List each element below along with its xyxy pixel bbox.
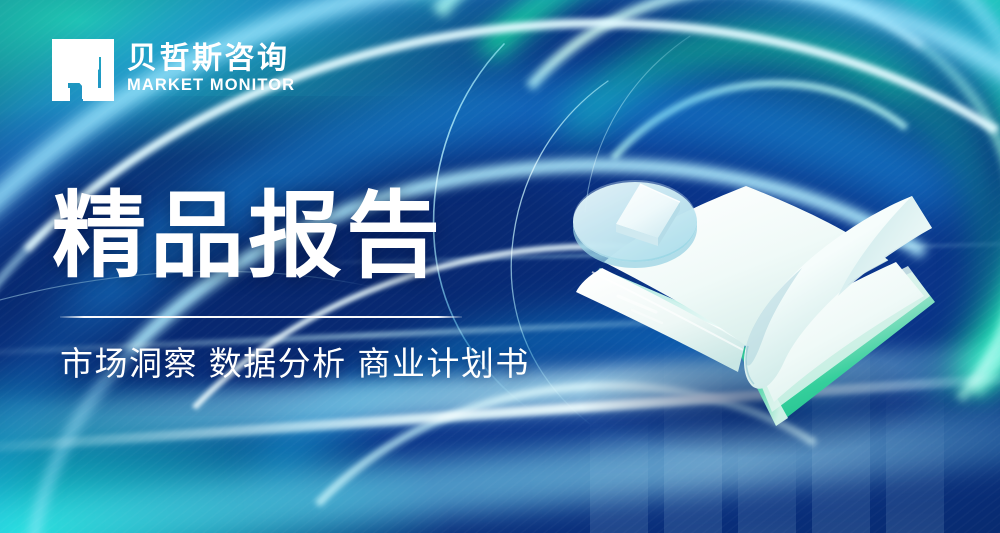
brand-name-cn: 贝哲斯咨询 [127, 44, 295, 74]
brand-logo-text: 贝哲斯咨询 MARKET MONITOR [127, 44, 295, 96]
banner-content: 贝哲斯咨询 MARKET MONITOR 精品报告 市场洞察 数据分析 商业计划… [0, 0, 560, 533]
brand-name-en: MARKET MONITOR [127, 77, 295, 94]
open-book-with-pie-chart [540, 150, 960, 450]
report-promo-banner: 贝哲斯咨询 MARKET MONITOR 精品报告 市场洞察 数据分析 商业计划… [0, 0, 1000, 533]
page-subtitle: 市场洞察 数据分析 商业计划书 [60, 346, 560, 382]
market-monitor-m-logo-icon [52, 39, 114, 101]
brand-logo[interactable]: 贝哲斯咨询 MARKET MONITOR [52, 34, 560, 106]
title-divider [60, 316, 462, 318]
page-title: 精品报告 [52, 188, 560, 284]
